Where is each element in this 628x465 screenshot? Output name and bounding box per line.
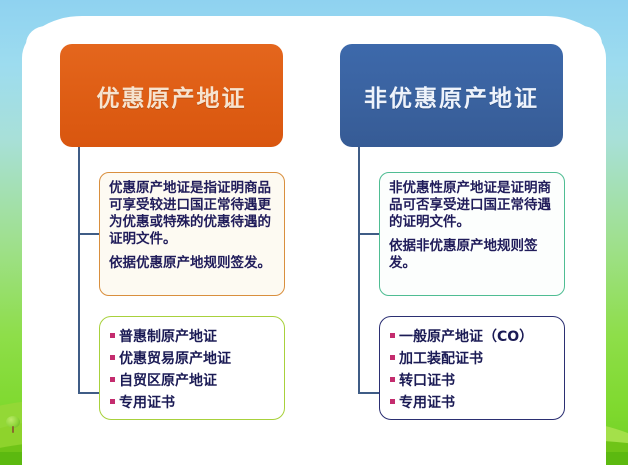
column-non-preferential: 非优惠原产地证 非优惠性原产地证是证明商品可否享受进口国正常待遇 的证明文件。 … <box>0 0 300 465</box>
description-box-non-preferential: 非优惠性原产地证是证明商品可否享受进口国正常待遇 的证明文件。 依据非优惠原产地… <box>379 172 565 296</box>
slide-canvas: 优惠原产地证 优惠原产地证是指证明商品可享受较进口国正常待遇更为优惠或特殊的优惠… <box>0 0 628 465</box>
list-item[interactable]: 一般原产地证（CO） <box>390 326 554 348</box>
connector-branch-right-desc <box>358 233 380 235</box>
header-box-non-preferential[interactable]: 非优惠原产地证 <box>340 44 563 147</box>
list-item-label: 专用证书 <box>399 392 455 414</box>
list-item-label: 一般原产地证（CO） <box>399 326 533 348</box>
list-item-label: 加工装配证书 <box>399 348 483 370</box>
list-item[interactable]: 加工装配证书 <box>390 348 554 370</box>
list-box-non-preferential: 一般原产地证（CO） 加工装配证书 转口证书 专用证书 <box>379 316 565 420</box>
list-item[interactable]: 专用证书 <box>390 392 554 414</box>
connector-vertical-right <box>358 147 360 393</box>
bullet-icon <box>390 377 395 382</box>
bullet-icon <box>390 333 395 338</box>
description-paragraph: 非优惠性原产地证是证明商品可否享受进口国正常待遇 的证明文件。 <box>389 180 555 231</box>
header-label-non-preferential: 非优惠原产地证 <box>364 79 539 113</box>
bullet-icon <box>390 399 395 404</box>
list-item-label: 转口证书 <box>399 370 455 392</box>
bullet-icon <box>390 355 395 360</box>
connector-branch-right-list <box>358 392 380 394</box>
list-item[interactable]: 转口证书 <box>390 370 554 392</box>
description-paragraph: 依据非优惠原产地规则签发。 <box>389 238 555 272</box>
